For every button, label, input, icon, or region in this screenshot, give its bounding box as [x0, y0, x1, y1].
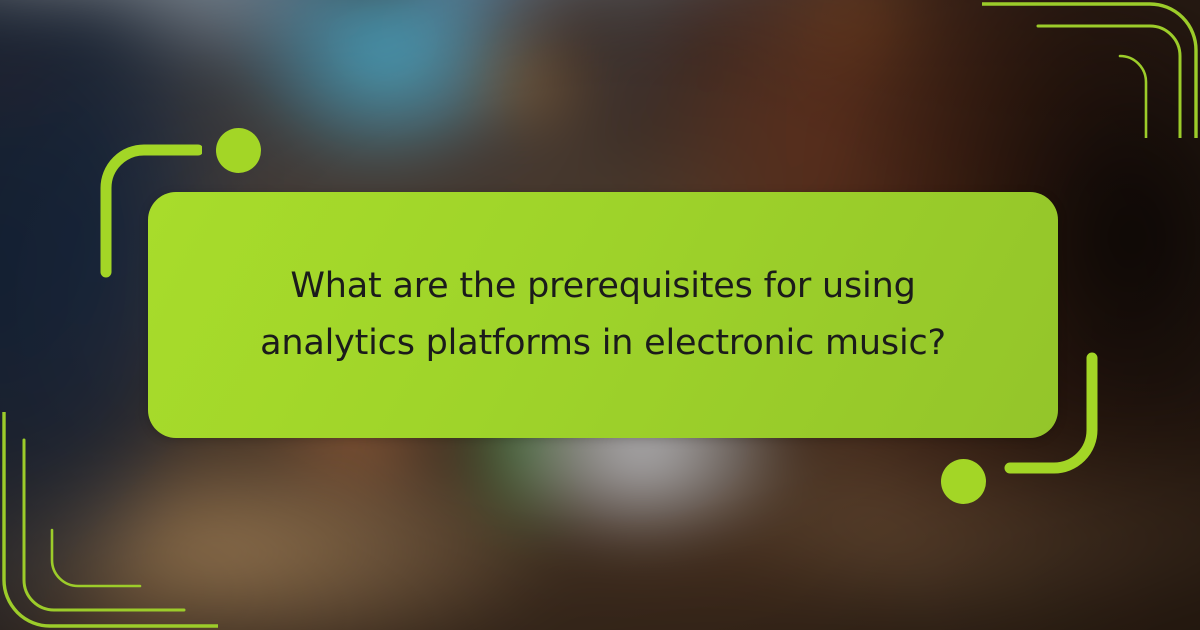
question-text: What are the prerequisites for using ana…: [210, 258, 996, 371]
social-card-canvas: What are the prerequisites for using ana…: [0, 0, 1200, 630]
accent-dot-bottom-right-icon: [941, 459, 986, 504]
question-card: What are the prerequisites for using ana…: [148, 192, 1058, 438]
accent-dot-top-left-icon: [216, 128, 261, 173]
